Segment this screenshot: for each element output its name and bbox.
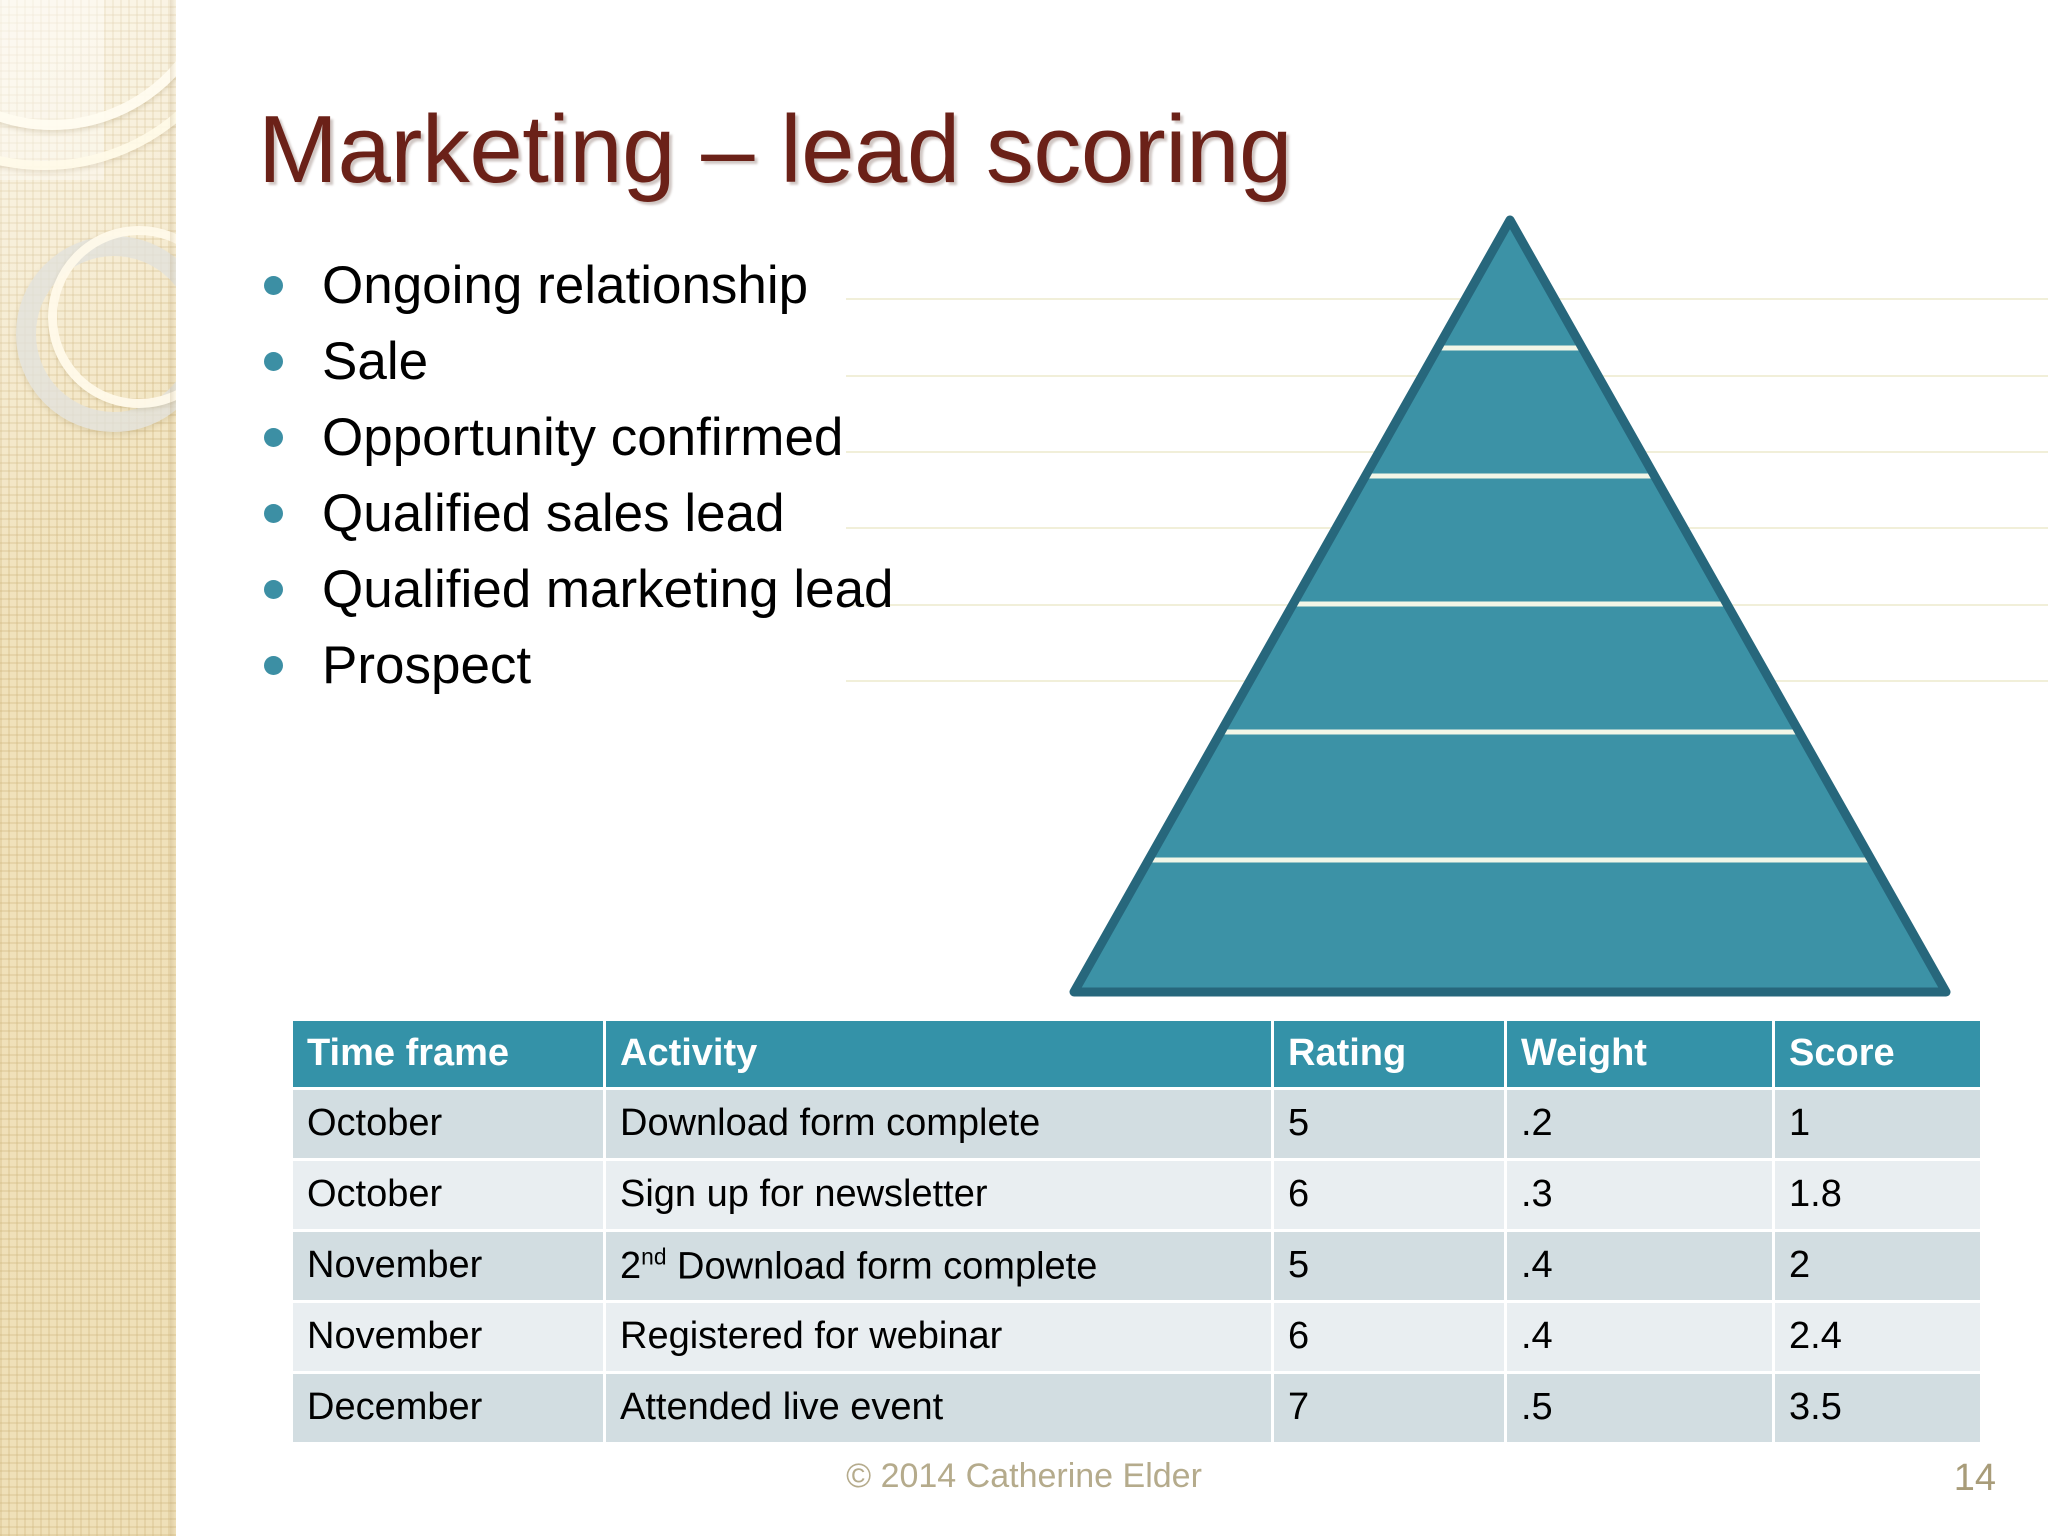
cell-time-frame: November [293, 1232, 603, 1300]
cell-rating: 5 [1274, 1090, 1504, 1158]
cell-score: 3.5 [1775, 1374, 1980, 1442]
slide-canvas: Marketing – lead scoring Ongoing relatio… [0, 0, 2048, 1536]
cell-weight: .2 [1507, 1090, 1772, 1158]
table-row[interactable]: October Download form complete 5 .2 1 [293, 1090, 1980, 1158]
cell-activity: Download form complete [606, 1090, 1271, 1158]
bullet-dot-icon [264, 656, 283, 675]
decorative-side-panel [0, 0, 176, 1536]
table-row[interactable]: December Attended live event 7 .5 3.5 [293, 1374, 1980, 1442]
activity-prefix: 2nd [620, 1245, 667, 1287]
bullet-dot-icon [264, 352, 283, 371]
cell-score: 1.8 [1775, 1161, 1980, 1229]
cell-score: 2.4 [1775, 1303, 1980, 1371]
list-item[interactable]: Ongoing relationship [264, 252, 1044, 328]
column-header-activity[interactable]: Activity [606, 1021, 1271, 1087]
table-row[interactable]: November 2nd Download form complete 5 .4… [293, 1232, 1980, 1300]
column-header-score[interactable]: Score [1775, 1021, 1980, 1087]
list-item[interactable]: Opportunity confirmed [264, 404, 1044, 480]
cell-rating: 6 [1274, 1303, 1504, 1371]
column-header-rating[interactable]: Rating [1274, 1021, 1504, 1087]
list-item[interactable]: Prospect [264, 632, 1044, 708]
cell-time-frame: November [293, 1303, 603, 1371]
cell-weight: .4 [1507, 1303, 1772, 1371]
activity-text: Download form complete [667, 1245, 1098, 1287]
activity-text: Attended live event [620, 1386, 943, 1428]
cell-weight: .5 [1507, 1374, 1772, 1442]
bullet-list: Ongoing relationship Sale Opportunity co… [264, 252, 1044, 708]
cell-time-frame: December [293, 1374, 603, 1442]
activity-text: Registered for webinar [620, 1315, 1002, 1357]
bullet-label: Qualified marketing lead [322, 556, 894, 616]
cell-activity: Sign up for newsletter [606, 1161, 1271, 1229]
cell-rating: 6 [1274, 1161, 1504, 1229]
activity-text: Sign up for newsletter [620, 1173, 988, 1215]
table-header-row: Time frame Activity Rating Weight Score [293, 1021, 1980, 1087]
bullet-label: Prospect [322, 632, 531, 692]
table-row[interactable]: October Sign up for newsletter 6 .3 1.8 [293, 1161, 1980, 1229]
column-header-weight[interactable]: Weight [1507, 1021, 1772, 1087]
panel-edge-shadow [170, 0, 176, 1536]
list-item[interactable]: Qualified sales lead [264, 480, 1044, 556]
bullet-label: Qualified sales lead [322, 480, 785, 540]
list-item[interactable]: Sale [264, 328, 1044, 404]
bullet-dot-icon [264, 504, 283, 523]
bullet-dot-icon [264, 428, 283, 447]
page-number: 14 [1954, 1457, 1996, 1500]
cell-time-frame: October [293, 1090, 603, 1158]
lead-scoring-pyramid [1060, 206, 1960, 1006]
column-header-time-frame[interactable]: Time frame [293, 1021, 603, 1087]
page-title: Marketing – lead scoring [258, 96, 1818, 204]
cell-rating: 7 [1274, 1374, 1504, 1442]
footer-copyright: © 2014 Catherine Elder [0, 1457, 2048, 1496]
bullet-label: Ongoing relationship [322, 252, 808, 312]
cell-activity: 2nd Download form complete [606, 1232, 1271, 1300]
list-item[interactable]: Qualified marketing lead [264, 556, 1044, 632]
cell-score: 1 [1775, 1090, 1980, 1158]
bullet-dot-icon [264, 276, 283, 295]
cell-rating: 5 [1274, 1232, 1504, 1300]
bullet-label: Opportunity confirmed [322, 404, 843, 464]
cell-activity: Registered for webinar [606, 1303, 1271, 1371]
cell-weight: .3 [1507, 1161, 1772, 1229]
cell-weight: .4 [1507, 1232, 1772, 1300]
cell-time-frame: October [293, 1161, 603, 1229]
bullet-dot-icon [264, 580, 283, 599]
activity-text: Download form complete [620, 1102, 1040, 1144]
cell-activity: Attended live event [606, 1374, 1271, 1442]
cell-score: 2 [1775, 1232, 1980, 1300]
lead-scoring-table: Time frame Activity Rating Weight Score … [290, 1018, 1983, 1445]
bullet-label: Sale [322, 328, 428, 388]
table-row[interactable]: November Registered for webinar 6 .4 2.4 [293, 1303, 1980, 1371]
